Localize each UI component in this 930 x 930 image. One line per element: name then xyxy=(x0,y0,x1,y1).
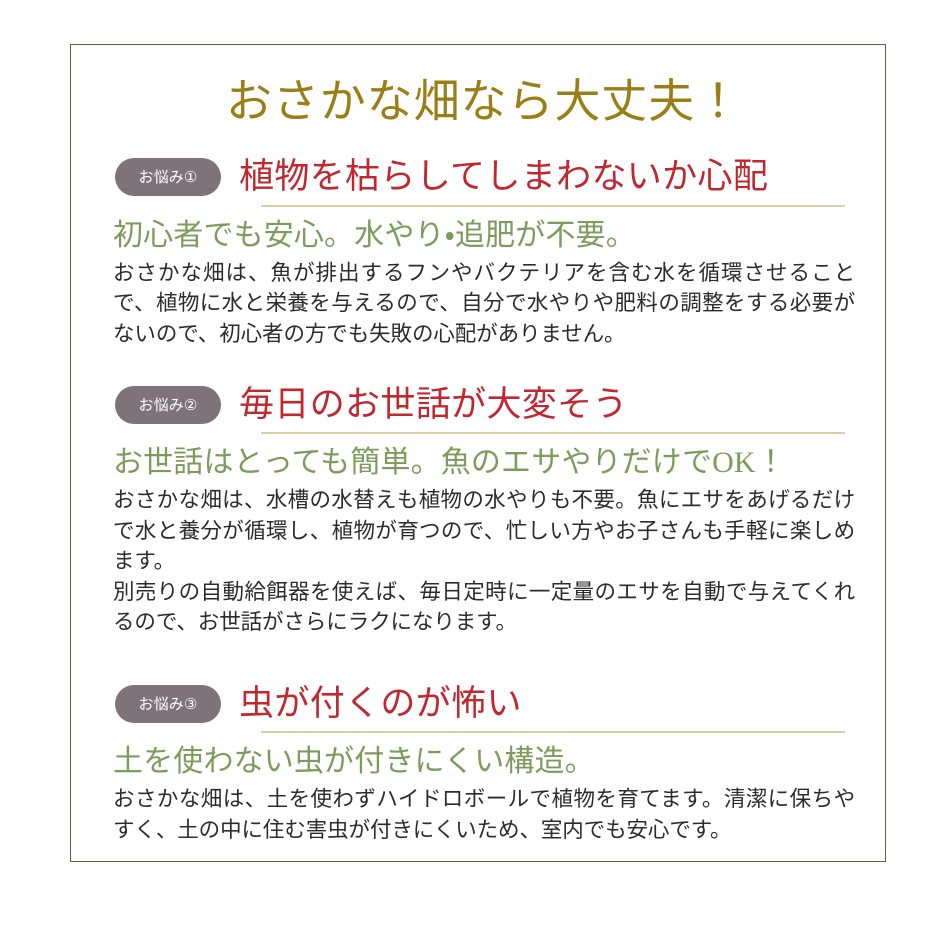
faq-section-2: お悩み② 毎日のお世話が大変そう お世話はとっても簡単。魚のエサやりだけでOK！… xyxy=(113,385,855,638)
problem-badge-2: お悩み② xyxy=(115,386,221,424)
problem-title-2: 毎日のお世話が大変そう xyxy=(239,385,628,425)
content-area: おさかな畑なら大丈夫！ お悩み① 植物を枯らしてしまわないか心配 初心者でも安心… xyxy=(71,45,885,861)
section-divider-3 xyxy=(261,731,845,733)
answer-title-3: 土を使わない虫が付きにくい構造。 xyxy=(113,744,855,780)
body-paragraph-2-1: おさかな畑は、水槽の水替えも植物の水やりも不要。魚にエサをあげるだけで水と養分が… xyxy=(113,485,855,577)
section-divider-1 xyxy=(261,205,845,207)
promo-graphic: おさかな畑なら大丈夫！ お悩み① 植物を枯らしてしまわないか心配 初心者でも安心… xyxy=(0,0,930,930)
content-frame: おさかな畑なら大丈夫！ お悩み① 植物を枯らしてしまわないか心配 初心者でも安心… xyxy=(70,44,886,862)
problem-title-1: 植物を枯らしてしまわないか心配 xyxy=(239,157,768,197)
body-paragraph-2-2: 別売りの自動給餌器を使えば、毎日定時に一定量のエサを自動で与えてくれるので、お世… xyxy=(113,577,855,638)
faq-section-1: お悩み① 植物を枯らしてしまわないか心配 初心者でも安心。水やり・追肥が不要。 … xyxy=(113,157,855,349)
section-1-header: お悩み① 植物を枯らしてしまわないか心配 xyxy=(113,157,855,197)
problem-badge-3: お悩み③ xyxy=(115,685,221,723)
body-paragraph-3-1: おさかな畑は、土を使わずハイドロボールで植物を育てます。清潔に保ちやすく、土の中… xyxy=(113,784,855,845)
problem-title-3: 虫が付くのが怖い xyxy=(239,684,522,724)
section-3-header: お悩み③ 虫が付くのが怖い xyxy=(113,684,855,724)
body-paragraph-1-1: おさかな畑は、魚が排出するフンやバクテリアを含む水を循環させることで、植物に水と… xyxy=(113,258,855,350)
answer-title-1: 初心者でも安心。水やり・追肥が不要。 xyxy=(113,218,855,254)
section-divider-2 xyxy=(261,432,845,434)
problem-badge-1: お悩み① xyxy=(115,158,221,196)
section-2-header: お悩み② 毎日のお世話が大変そう xyxy=(113,385,855,425)
answer-title-2: お世話はとっても簡単。魚のエサやりだけでOK！ xyxy=(113,445,855,481)
faq-section-3: お悩み③ 虫が付くのが怖い 土を使わない虫が付きにくい構造。 おさかな畑は、土を… xyxy=(113,684,855,845)
page-title: おさかな畑なら大丈夫！ xyxy=(113,75,855,131)
